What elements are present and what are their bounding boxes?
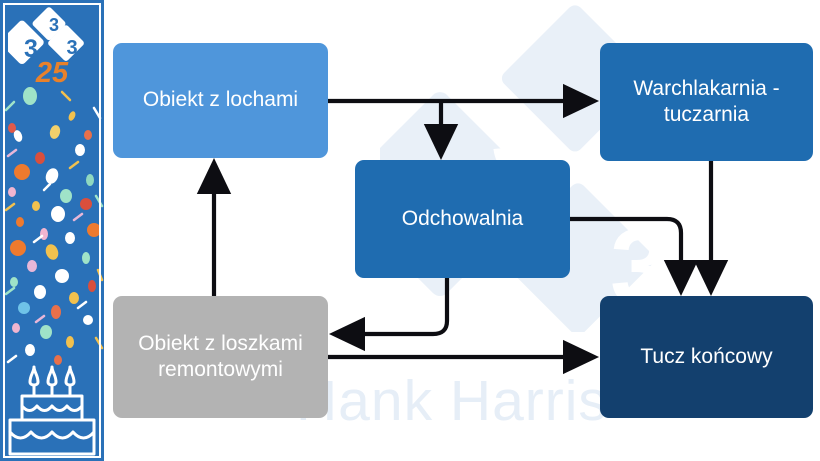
node-label: Odchowalnia — [402, 206, 523, 232]
svg-text:3: 3 — [66, 37, 77, 59]
watermark-text: Hank Harris — [296, 368, 608, 434]
birthday-cake-icon — [6, 358, 98, 456]
edge-nursery-to-finishing — [570, 219, 681, 291]
node-label: Obiekt z loszkami remontowymi — [123, 331, 318, 384]
edge-nursery-to-gilts — [334, 278, 447, 334]
node-tucz-koncowy[interactable]: Tucz końcowy — [600, 296, 813, 418]
svg-text:25: 25 — [35, 57, 69, 84]
node-label: Warchlakarnia - tuczarnia — [610, 76, 803, 129]
333-logo: 3 3 3 25 — [8, 6, 98, 84]
svg-text:3: 3 — [49, 15, 59, 35]
node-label: Obiekt z lochami — [143, 87, 298, 113]
node-odchowalnia[interactable]: Odchowalnia — [355, 160, 570, 278]
confetti-decoration — [0, 80, 104, 380]
diagram-canvas: 3 3 3 Hank Harris — [0, 0, 820, 461]
node-label: Tucz końcowy — [640, 344, 772, 370]
node-obiekt-z-lochami[interactable]: Obiekt z lochami — [113, 43, 328, 158]
node-warchlakarnia-tuczarnia[interactable]: Warchlakarnia - tuczarnia — [600, 43, 813, 161]
node-obiekt-z-loszkami-remontowymi[interactable]: Obiekt z loszkami remontowymi — [113, 296, 328, 418]
celebration-sidebar: 3 3 3 25 — [0, 0, 104, 461]
